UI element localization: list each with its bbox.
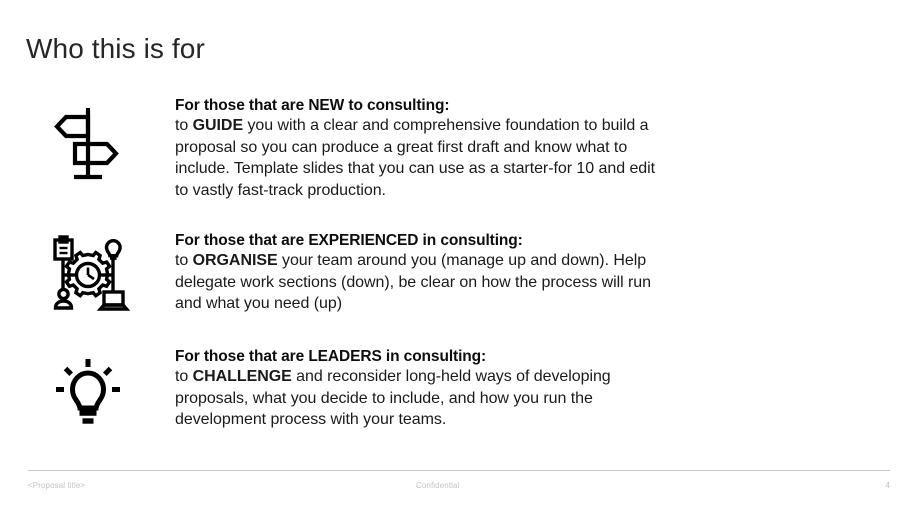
page-title: Who this is for [26,32,205,66]
footer-proposal-title: <Proposal title> [28,481,85,490]
body-emphasis: CHALLENGE [193,368,292,385]
text-cell: For those that are LEADERS in consulting… [175,347,670,431]
body-rest: you with a clear and comprehensive found… [175,117,655,199]
body-lead: to [175,368,193,385]
block-body: to CHALLENGE and reconsider long-held wa… [175,366,670,431]
footer-divider [28,470,890,471]
block-heading: For those that are EXPERIENCED in consul… [175,231,670,250]
body-lead: to [175,117,193,134]
block-body: to ORGANISE your team around you (manage… [175,250,670,315]
slide-footer: <Proposal title> Confidential 4 [0,481,920,495]
footer-page-number: 4 [885,481,890,490]
text-cell: For those that are EXPERIENCED in consul… [175,231,670,315]
signpost-icon [0,96,175,186]
lightbulb-icon [0,347,175,441]
body-lead: to [175,252,193,269]
list-item: For those that are NEW to consulting: to… [0,96,920,201]
block-heading: For those that are NEW to consulting: [175,96,670,115]
list-item: For those that are LEADERS in consulting… [0,347,920,441]
body-emphasis: ORGANISE [193,252,278,269]
block-body: to GUIDE you with a clear and comprehens… [175,115,670,201]
process-gear-clock-icon [0,231,175,315]
content-area: For those that are NEW to consulting: to… [0,96,920,441]
footer-confidentiality-label: Confidential [416,481,459,490]
text-cell: For those that are NEW to consulting: to… [175,96,670,201]
list-item: For those that are EXPERIENCED in consul… [0,231,920,315]
block-heading: For those that are LEADERS in consulting… [175,347,670,366]
body-emphasis: GUIDE [193,117,243,134]
slide-canvas: Who this is for [0,0,920,518]
